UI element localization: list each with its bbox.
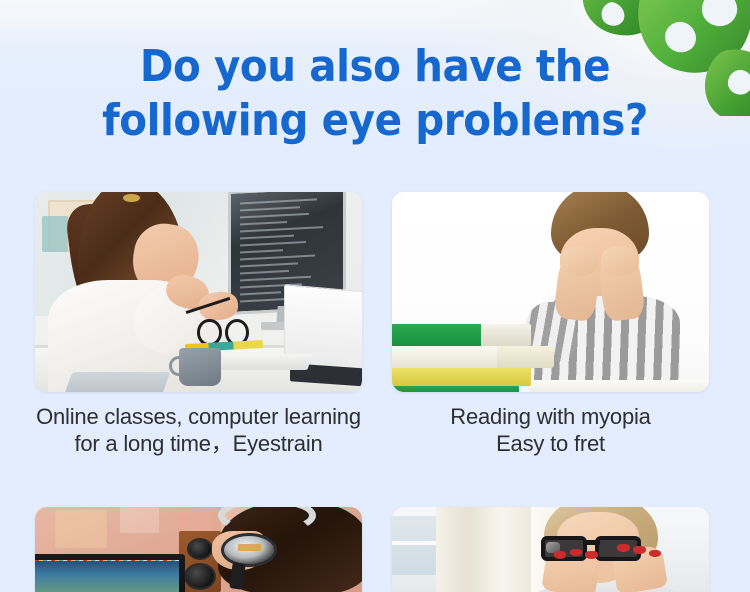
card-caption-reading-myopia: Reading with myopia Easy to fret [392, 403, 709, 457]
photo-woman-eyestrain-at-desk [35, 192, 362, 392]
caption-line-1: Online classes, computer learning [35, 403, 362, 430]
photo-woman-glasses-rubbing-eyes [392, 507, 709, 592]
problem-cards-grid-row-2 [35, 507, 709, 592]
photo-boy-headphones-computer [35, 507, 362, 592]
problem-card-reading-myopia[interactable]: Reading with myopia Easy to fret [392, 192, 709, 457]
promo-banner-page: Do you also have the following eye probl… [0, 0, 750, 592]
caption-line-2: for a long time，Eyestrain [35, 430, 362, 457]
problem-cards-grid-row-1: Online classes, computer learning for a … [35, 192, 709, 457]
photo-boy-rubbing-eyes-books [392, 192, 709, 392]
card-caption-online-classes: Online classes, computer learning for a … [35, 403, 362, 457]
photo-card-woman-glasses[interactable] [392, 507, 709, 592]
page-title-line-1: Do you also have the [30, 40, 720, 94]
photo-card-gaming-headphones[interactable] [35, 507, 362, 592]
problem-card-woman-glasses[interactable] [392, 507, 709, 592]
problem-card-gaming-headphones[interactable] [35, 507, 362, 592]
photo-card-reading-myopia[interactable] [392, 192, 709, 392]
problem-card-online-classes[interactable]: Online classes, computer learning for a … [35, 192, 362, 457]
page-title-line-2: following eye problems? [30, 94, 720, 148]
page-title: Do you also have the following eye probl… [30, 40, 720, 148]
photo-card-online-classes[interactable] [35, 192, 362, 392]
caption-line-1: Reading with myopia [392, 403, 709, 430]
caption-line-2: Easy to fret [392, 430, 709, 457]
